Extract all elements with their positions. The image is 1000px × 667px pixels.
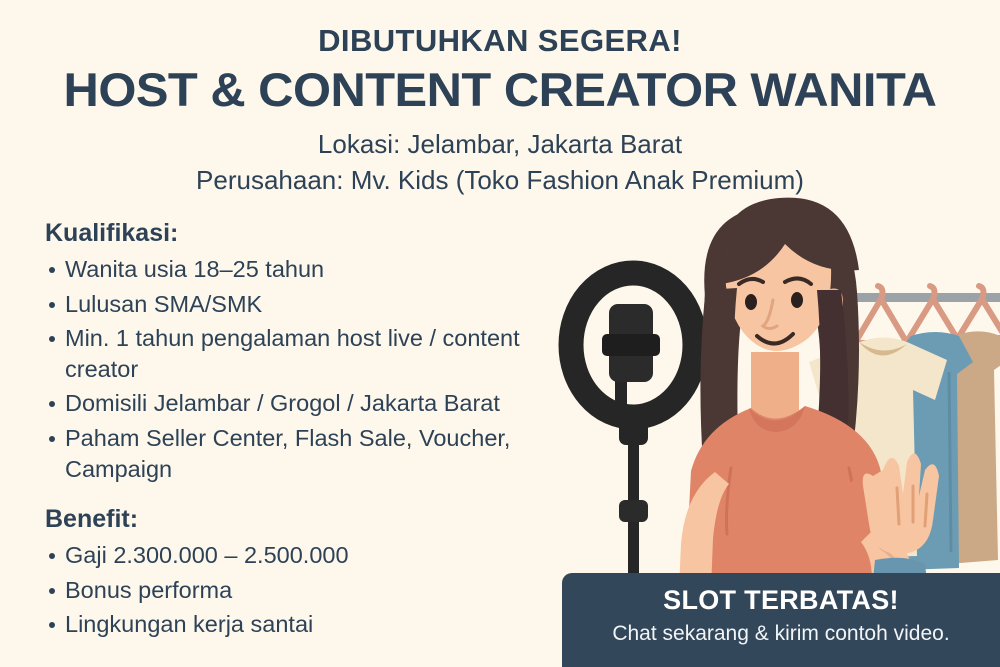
cta-subtitle: Chat sekarang & kirim contoh video. — [562, 620, 1000, 647]
cta-banner[interactable]: SLOT TERBATAS! Chat sekarang & kirim con… — [562, 573, 1000, 667]
list-item: Lingkungan kerja santai — [45, 609, 565, 640]
qualifications-heading: Kualifikasi: — [45, 218, 565, 249]
host-neck — [751, 352, 799, 422]
job-poster: DIBUTUHKAN SEGERA! HOST & CONTENT CREATO… — [0, 0, 1000, 667]
list-item: Min. 1 tahun pengalaman host live / cont… — [45, 323, 565, 386]
benefits-list: Gaji 2.300.000 – 2.500.000 Bonus perform… — [45, 540, 565, 640]
list-item: Bonus performa — [45, 575, 565, 606]
benefits-heading: Benefit: — [45, 504, 565, 535]
list-item: Gaji 2.300.000 – 2.500.000 — [45, 540, 565, 571]
live-streaming-illustration — [545, 0, 1000, 667]
list-item: Wanita usia 18–25 tahun — [45, 254, 565, 285]
list-item: Lulusan SMA/SMK — [45, 289, 565, 320]
requirements-column: Kualifikasi: Wanita usia 18–25 tahun Lul… — [45, 218, 565, 643]
list-item: Paham Seller Center, Flash Sale, Voucher… — [45, 423, 565, 486]
list-item: Domisili Jelambar / Grogol / Jakarta Bar… — [45, 388, 565, 419]
clothing-rack-icon — [845, 293, 1000, 302]
cta-title: SLOT TERBATAS! — [562, 584, 1000, 616]
qualifications-list: Wanita usia 18–25 tahun Lulusan SMA/SMK … — [45, 254, 565, 485]
